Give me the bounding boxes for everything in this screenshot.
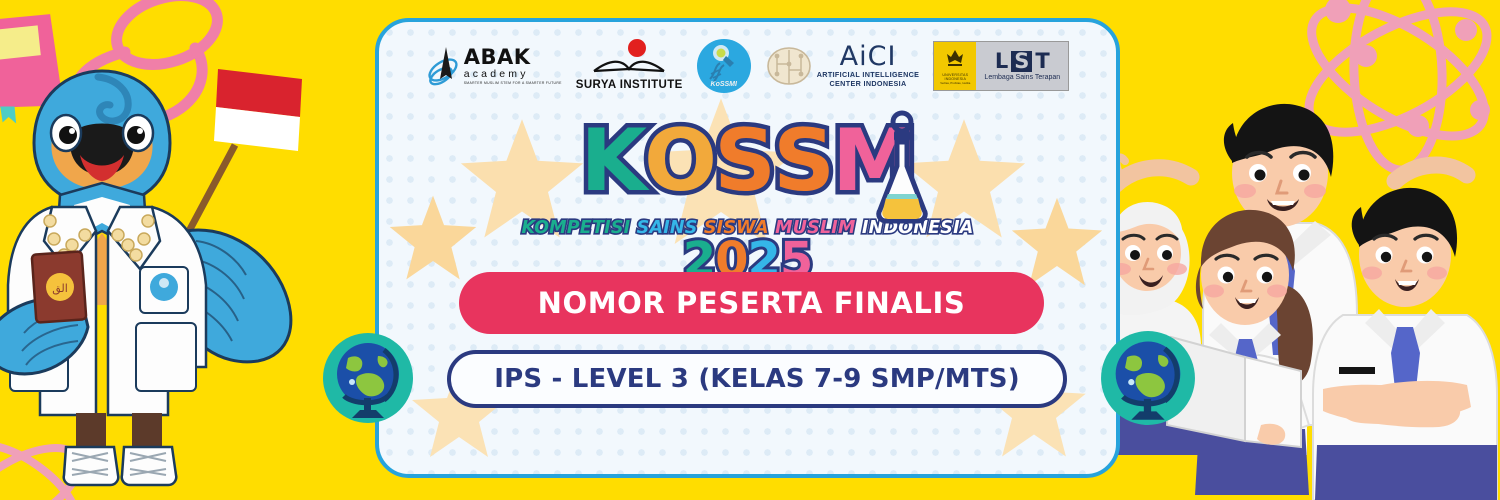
primary-banner-text: NOMOR PESERTA FINALIS: [538, 286, 966, 320]
blue-bird-mascot: الق: [0, 55, 330, 500]
partner-logo-strip: ABAK academy SMARTER MUSLIM STEM FOR A S…: [379, 34, 1116, 98]
kossmi-microscope-dna-icon: [704, 43, 744, 83]
surya-title: SURYA INSTITUTE: [576, 79, 683, 91]
svg-text:الق: الق: [52, 282, 68, 296]
surya-sun-book-icon: [590, 37, 668, 77]
lst-letter-t: T: [1035, 51, 1049, 72]
kossmi-wordmark: K O S S M: [580, 118, 914, 204]
partner-logo-surya-institute: SURYA INSTITUTE: [576, 37, 683, 95]
kossmi-letter-s2: S: [773, 118, 832, 204]
tagline-word-1: KOMPETISI: [521, 218, 630, 238]
partner-logo-kossmi: KoSSMI: [697, 37, 751, 95]
lst-letter-l: L: [995, 51, 1008, 72]
student-boy-crossed-arms: [1313, 188, 1497, 500]
partner-logo-abak-academy: ABAK academy SMARTER MUSLIM STEM FOR A S…: [426, 37, 562, 95]
lst-letters: L S T: [995, 51, 1050, 72]
aici-subtitle-line1: ARTIFICIAL INTELLIGENCE: [817, 70, 920, 79]
brain-circuit-icon: [765, 44, 813, 88]
lst-letter-s: S: [1011, 51, 1032, 72]
universitas-indonesia-seal-icon: [943, 48, 967, 72]
erlenmeyer-flask-icon: [874, 110, 930, 228]
kossmi-letter-k: K: [580, 118, 644, 204]
partner-logo-lst: UNIVERSITAS INDONESIA Veritas, Probitas,…: [933, 37, 1069, 95]
kossmi-letter-o: O: [644, 118, 714, 204]
abak-compass-icon: [426, 43, 460, 89]
aici-subtitle-line2: CENTER INDONESIA: [817, 79, 920, 88]
lst-university-motto: Veritas, Probitas, Iustitia: [940, 81, 970, 85]
abak-tagline: SMARTER MUSLIM STEM FOR A SMARTER FUTURE: [464, 82, 562, 85]
abak-title: ABAK: [464, 47, 562, 68]
globe-icon: [322, 332, 414, 424]
globe-icon: [1100, 330, 1196, 426]
aici-title: AiCI: [840, 44, 897, 70]
main-card: ABAK academy SMARTER MUSLIM STEM FOR A S…: [375, 18, 1120, 478]
student-group: [1095, 95, 1500, 500]
primary-banner: NOMOR PESERTA FINALIS: [459, 272, 1044, 334]
partner-logo-aici: AiCI ARTIFICIAL INTELLIGENCE CENTER INDO…: [765, 37, 920, 95]
abak-subtitle: academy: [464, 69, 562, 80]
secondary-banner: IPS - LEVEL 3 (KELAS 7-9 SMP/MTS): [447, 350, 1067, 408]
kossmi-main-logo: K O S S M KOMPETISI SAINS SISWA MUSLIM I…: [379, 118, 1116, 283]
lst-university-name: UNIVERSITAS INDONESIA: [934, 73, 976, 81]
lst-tagline: Lembaga Sains Terapan: [984, 74, 1060, 81]
secondary-banner-text: IPS - LEVEL 3 (KELAS 7-9 SMP/MTS): [494, 364, 1020, 394]
kossmi-letter-s1: S: [714, 118, 773, 204]
